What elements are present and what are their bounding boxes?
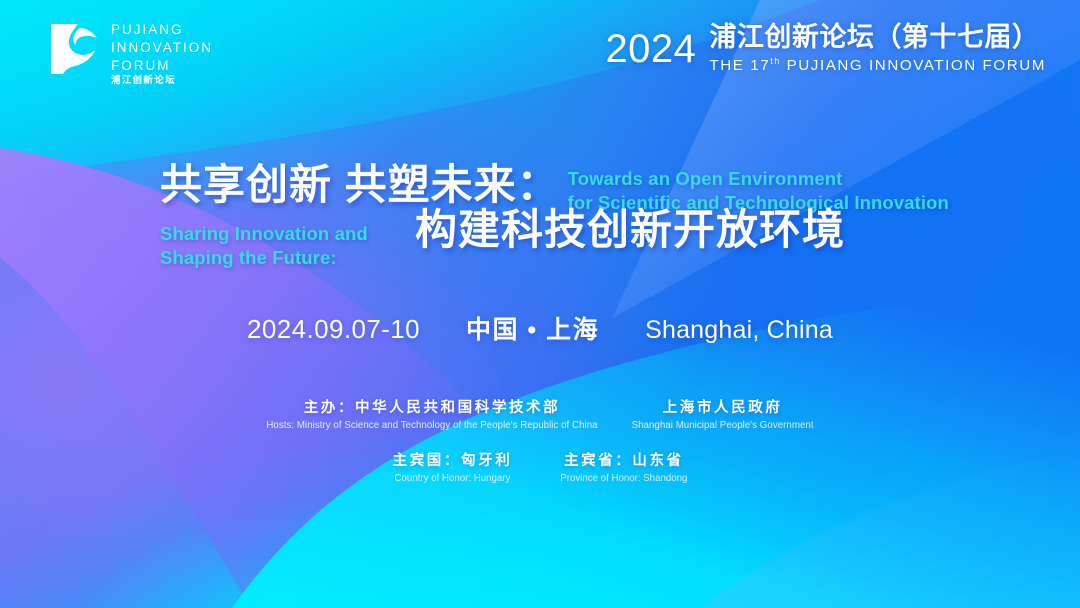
host-name-cn: 上海市人民政府: [632, 396, 814, 417]
poster-canvas: PUJIANG INNOVATION FORUM 浦江创新论坛 2024 浦江创…: [0, 0, 1080, 608]
event-title-en-ordinal: th: [770, 56, 781, 66]
guest-name-en: Province of Honor: Shandong: [560, 473, 687, 484]
guest-item: 主宾国：匈牙利 Country of Honor: Hungary: [393, 449, 513, 484]
host-name-en: Shanghai Municipal People's Government: [632, 420, 814, 431]
brand-line-forum: FORUM: [111, 59, 213, 73]
hosts-block: 主办：中华人民共和国科学技术部 Hosts: Ministry of Scien…: [0, 396, 1080, 431]
event-city-en: Shanghai, China: [645, 316, 833, 345]
brand-logo-wordmark: PUJIANG INNOVATION FORUM 浦江创新论坛: [111, 22, 213, 85]
theme-en-left-line-1: Sharing Innovation and: [160, 222, 415, 246]
host-item: 主办：中华人民共和国科学技术部 Hosts: Ministry of Scien…: [266, 396, 597, 431]
guest-name-cn: 主宾国：匈牙利: [393, 449, 513, 470]
event-title-en-prefix: THE 17: [709, 57, 770, 74]
event-title-en: THE 17th PUJIANG INNOVATION FORUM: [709, 57, 1046, 73]
guests-of-honor-block: 主宾国：匈牙利 Country of Honor: Hungary 主宾省：山东…: [0, 449, 1080, 484]
theme-en-left: Sharing Innovation and Shaping the Futur…: [160, 222, 415, 271]
brand-line-chinese: 浦江创新论坛: [111, 76, 213, 86]
event-title-stack: 浦江创新论坛（第十七届） THE 17th PUJIANG INNOVATION…: [709, 24, 1046, 73]
event-title-en-suffix: PUJIANG INNOVATION FORUM: [781, 57, 1046, 74]
guest-name-en: Country of Honor: Hungary: [393, 473, 513, 484]
host-item: 上海市人民政府 Shanghai Municipal People's Gove…: [632, 396, 814, 431]
event-city-cn: 中国 • 上海: [466, 310, 599, 346]
theme-cn-line-1: 共享创新 共塑未来：: [160, 163, 560, 207]
pujiang-forum-logomark-icon: [48, 22, 100, 76]
theme-en-left-line-2: Shaping the Future:: [160, 246, 415, 270]
brand-line-innovation: INNOVATION: [111, 41, 213, 55]
theme-en-right-line-1: Towards an Open Environment: [568, 167, 949, 191]
event-meta-line: 2024.09.07-10 中国 • 上海 Shanghai, China: [0, 310, 1080, 346]
guest-item: 主宾省：山东省 Province of Honor: Shandong: [560, 449, 687, 484]
theme-cn-line-2: 构建科技创新开放环境: [415, 208, 845, 252]
brand-line-pujiang: PUJIANG: [111, 23, 213, 37]
host-name-cn: 主办：中华人民共和国科学技术部: [266, 396, 597, 417]
guest-name-cn: 主宾省：山东省: [560, 449, 687, 470]
event-date: 2024.09.07-10: [247, 314, 420, 345]
event-header: 2024 浦江创新论坛（第十七届） THE 17th PUJIANG INNOV…: [605, 24, 1046, 73]
brand-logo[interactable]: PUJIANG INNOVATION FORUM 浦江创新论坛: [48, 22, 213, 85]
background-swoosh-shapes: [0, 0, 1080, 608]
theme-row-2: Sharing Innovation and Shaping the Futur…: [160, 222, 845, 271]
host-name-en: Hosts: Ministry of Science and Technolog…: [266, 420, 597, 431]
event-title-cn: 浦江创新论坛（第十七届）: [709, 24, 1046, 51]
event-year: 2024: [605, 24, 696, 69]
